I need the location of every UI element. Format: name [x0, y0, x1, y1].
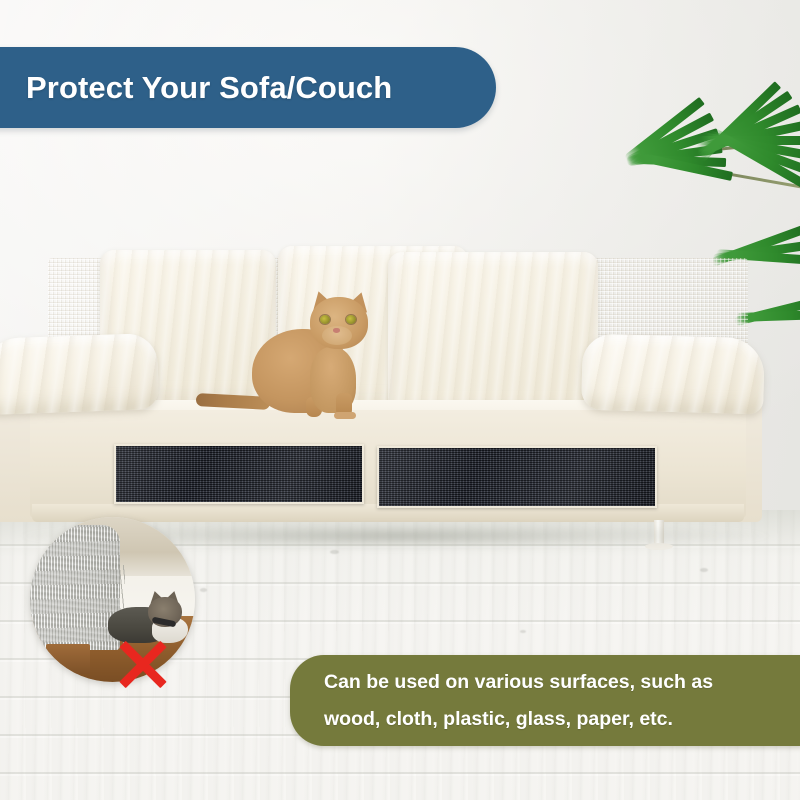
sofa-wood-foot: [46, 644, 90, 674]
cat-eye-left: [320, 315, 330, 324]
scratched-sofa-corner: [30, 525, 120, 650]
cat-on-sofa: [248, 295, 372, 417]
scratching-mat-left[interactable]: [114, 444, 364, 504]
sofa-back-cushion: [388, 252, 598, 420]
product-image-stage: Protect Your Sofa/Couch Can be used on v…: [0, 0, 800, 800]
floor-knot: [520, 630, 526, 633]
red-x-icon: [116, 637, 170, 691]
feature-caption-box: Can be used on various surfaces, such as…: [290, 655, 800, 746]
floor-knot: [700, 568, 708, 572]
caption-line-1: Can be used on various surfaces, such as: [324, 664, 786, 701]
cat-eye-right: [346, 315, 356, 324]
sofa-armrest-right: [581, 334, 765, 415]
cat-nose: [333, 328, 340, 333]
headline-banner: Protect Your Sofa/Couch: [0, 47, 496, 128]
cat-paw: [334, 412, 356, 419]
floor-knot: [200, 588, 207, 592]
scratching-mat-right[interactable]: [377, 446, 657, 508]
sofa-armrest-left: [0, 333, 159, 415]
caption-line-2: wood, cloth, plastic, glass, paper, etc.: [324, 701, 786, 738]
damaged-sofa-inset: [30, 517, 195, 682]
headline-text: Protect Your Sofa/Couch: [26, 70, 392, 106]
floor-knot: [330, 550, 339, 554]
